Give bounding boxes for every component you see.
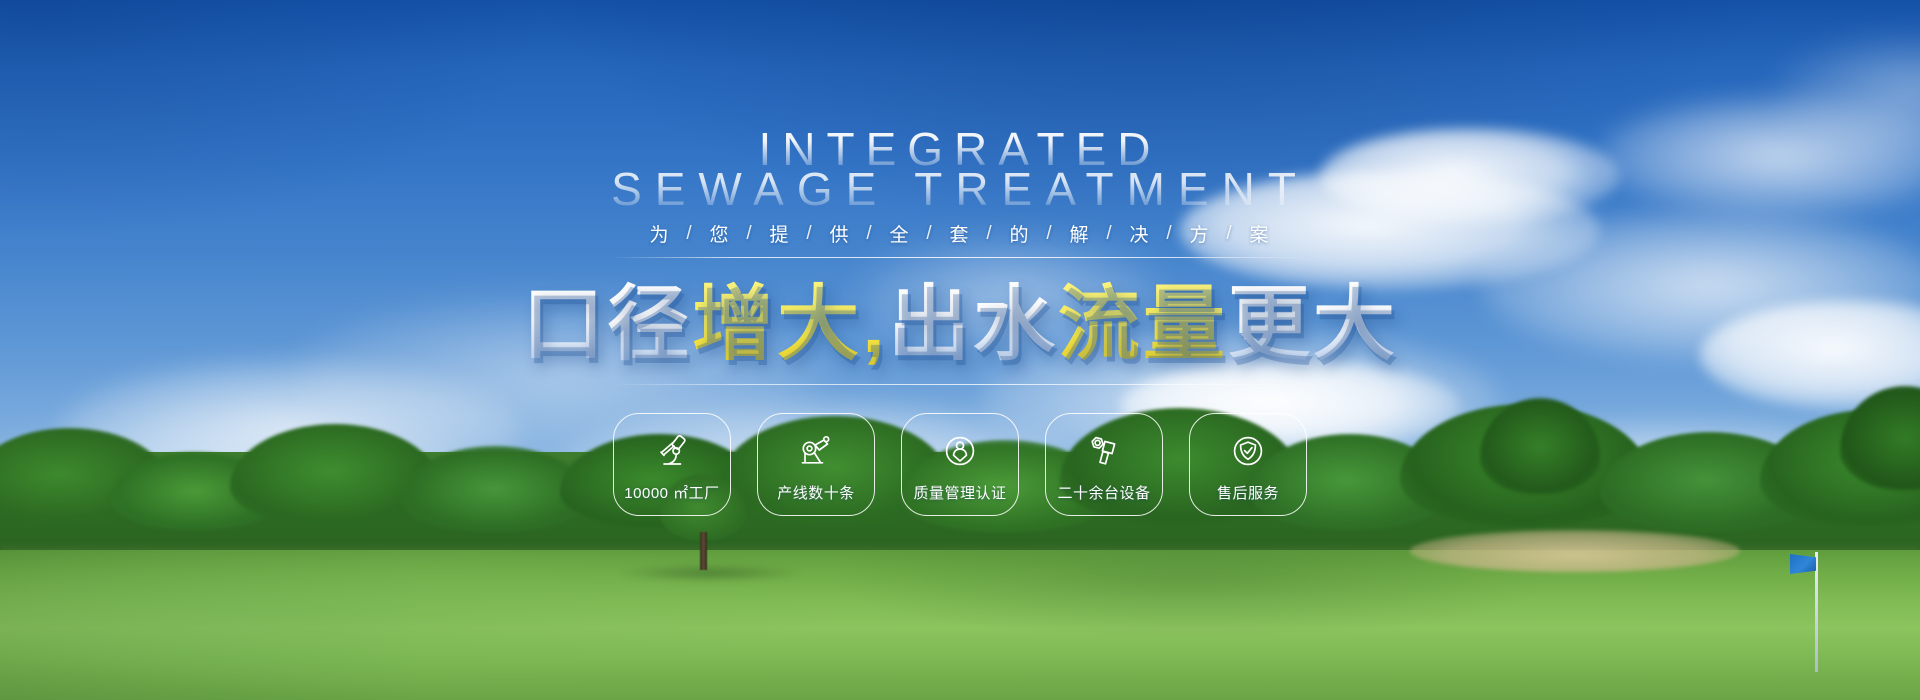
feature-badge-production-lines[interactable]: 产线数十条 [757, 413, 875, 516]
feature-badge-quality-certification[interactable]: 质量管理认证 [901, 413, 1019, 516]
shield-check-icon [1228, 431, 1268, 471]
flag-icon [1790, 554, 1816, 574]
microscope-icon [652, 431, 692, 471]
feature-badge-label: 质量管理认证 [913, 482, 1006, 503]
feature-badge-list: 10000 ㎡工厂 产线数十条 [613, 413, 1307, 516]
feature-badge-label: 售后服务 [1217, 482, 1279, 503]
production-machine-icon [796, 431, 836, 471]
lawn-shading [0, 550, 1920, 700]
certified-person-icon [940, 431, 980, 471]
bolt-nut-icon [1084, 431, 1124, 471]
feature-badge-factory[interactable]: 10000 ㎡工厂 [613, 413, 731, 516]
feature-badge-label: 10000 ㎡工厂 [624, 482, 719, 503]
feature-badge-label: 二十余台设备 [1057, 482, 1150, 503]
golf-flag [1796, 552, 1832, 672]
feature-badge-label: 产线数十条 [777, 482, 855, 503]
feature-badge-after-sales[interactable]: 售后服务 [1189, 413, 1307, 516]
feature-badge-equipment[interactable]: 二十余台设备 [1045, 413, 1163, 516]
hero-banner: INTEGRATED SEWAGE TREATMENT 为/您/提/供/全/套/… [0, 0, 1920, 700]
sand-bunker [1410, 530, 1740, 572]
